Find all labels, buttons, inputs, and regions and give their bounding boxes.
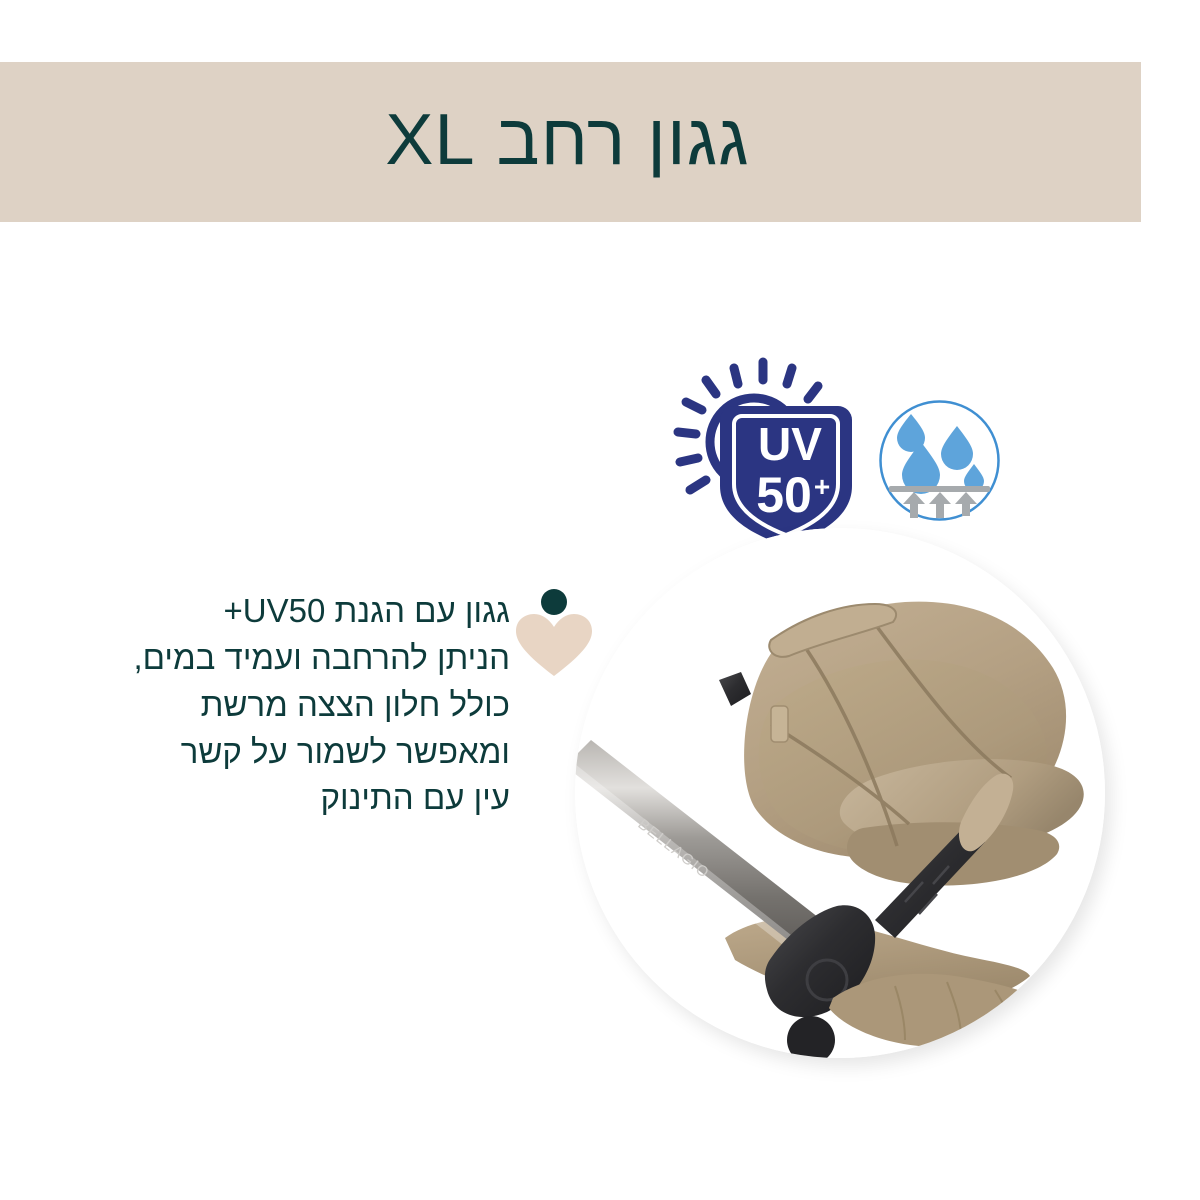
- feature-icons-row: UV 50 +: [672, 350, 1002, 550]
- uv-protection-badge-icon: UV 50 +: [672, 350, 857, 550]
- uv-plus-label: +: [814, 471, 830, 502]
- feature-description-text: גגון עם הגנת UV50+ הניתן להרחבה ועמיד במ…: [80, 588, 510, 822]
- feature-description-block: גגון עם הגנת UV50+ הניתן להרחבה ועמיד במ…: [80, 588, 510, 822]
- canopy-brand-tag: [771, 706, 788, 742]
- surface-bar-icon: [889, 486, 990, 492]
- page-header-banner: גגון רחב XL: [0, 62, 1141, 222]
- photo-inner: BELLAGIO: [575, 528, 1105, 1058]
- uv-label: UV: [758, 418, 822, 470]
- stroller-canopy-photo: BELLAGIO: [575, 528, 1105, 1058]
- water-repellent-icon: [877, 398, 1002, 523]
- uv-level-label: 50: [756, 467, 812, 523]
- upward-arrows-icon: [903, 492, 977, 518]
- marker-dot-icon: [541, 589, 567, 615]
- page-title: גגון רחב XL: [385, 104, 755, 176]
